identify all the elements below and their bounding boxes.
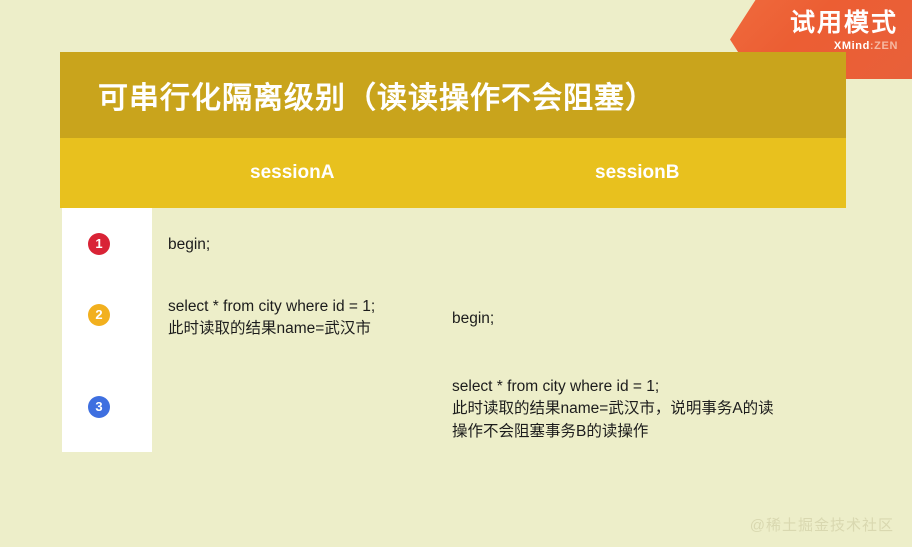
step-badge-2: 2 [88,304,110,326]
xmind-brand: XMind:ZEN [730,40,898,52]
step-1-session-a-text: begin; [168,234,210,256]
step-number-rail: 1 2 3 [62,208,152,452]
session-column-header-a: sessionA [250,162,334,184]
diagram-title-bar: 可串行化隔离级别（读读操作不会阻塞） [60,52,846,138]
session-header-row: sessionA sessionB [60,138,846,208]
trial-mode-title: 试用模式 [730,9,898,38]
step-3-session-b-text: select * from city where id = 1; 此时读取的结果… [452,376,774,443]
step-badge-1: 1 [88,233,110,255]
page-title: 可串行化隔离级别（读读操作不会阻塞） [98,73,656,117]
step-2-session-a-text: select * from city where id = 1; 此时读取的结果… [168,296,375,341]
xmind-brand-primary: XMind [834,40,870,52]
diagram-body: 1 2 3 begin; select * from city where id… [60,208,846,456]
step-badge-3: 3 [88,396,110,418]
step-2-session-b-text: begin; [452,308,494,330]
watermark: @稀土掘金技术社区 [750,514,894,535]
diagram-card: 可串行化隔离级别（读读操作不会阻塞） sessionA sessionB 1 2… [60,52,846,456]
xmind-brand-secondary: :ZEN [870,40,898,52]
session-column-header-b: sessionB [595,162,679,184]
